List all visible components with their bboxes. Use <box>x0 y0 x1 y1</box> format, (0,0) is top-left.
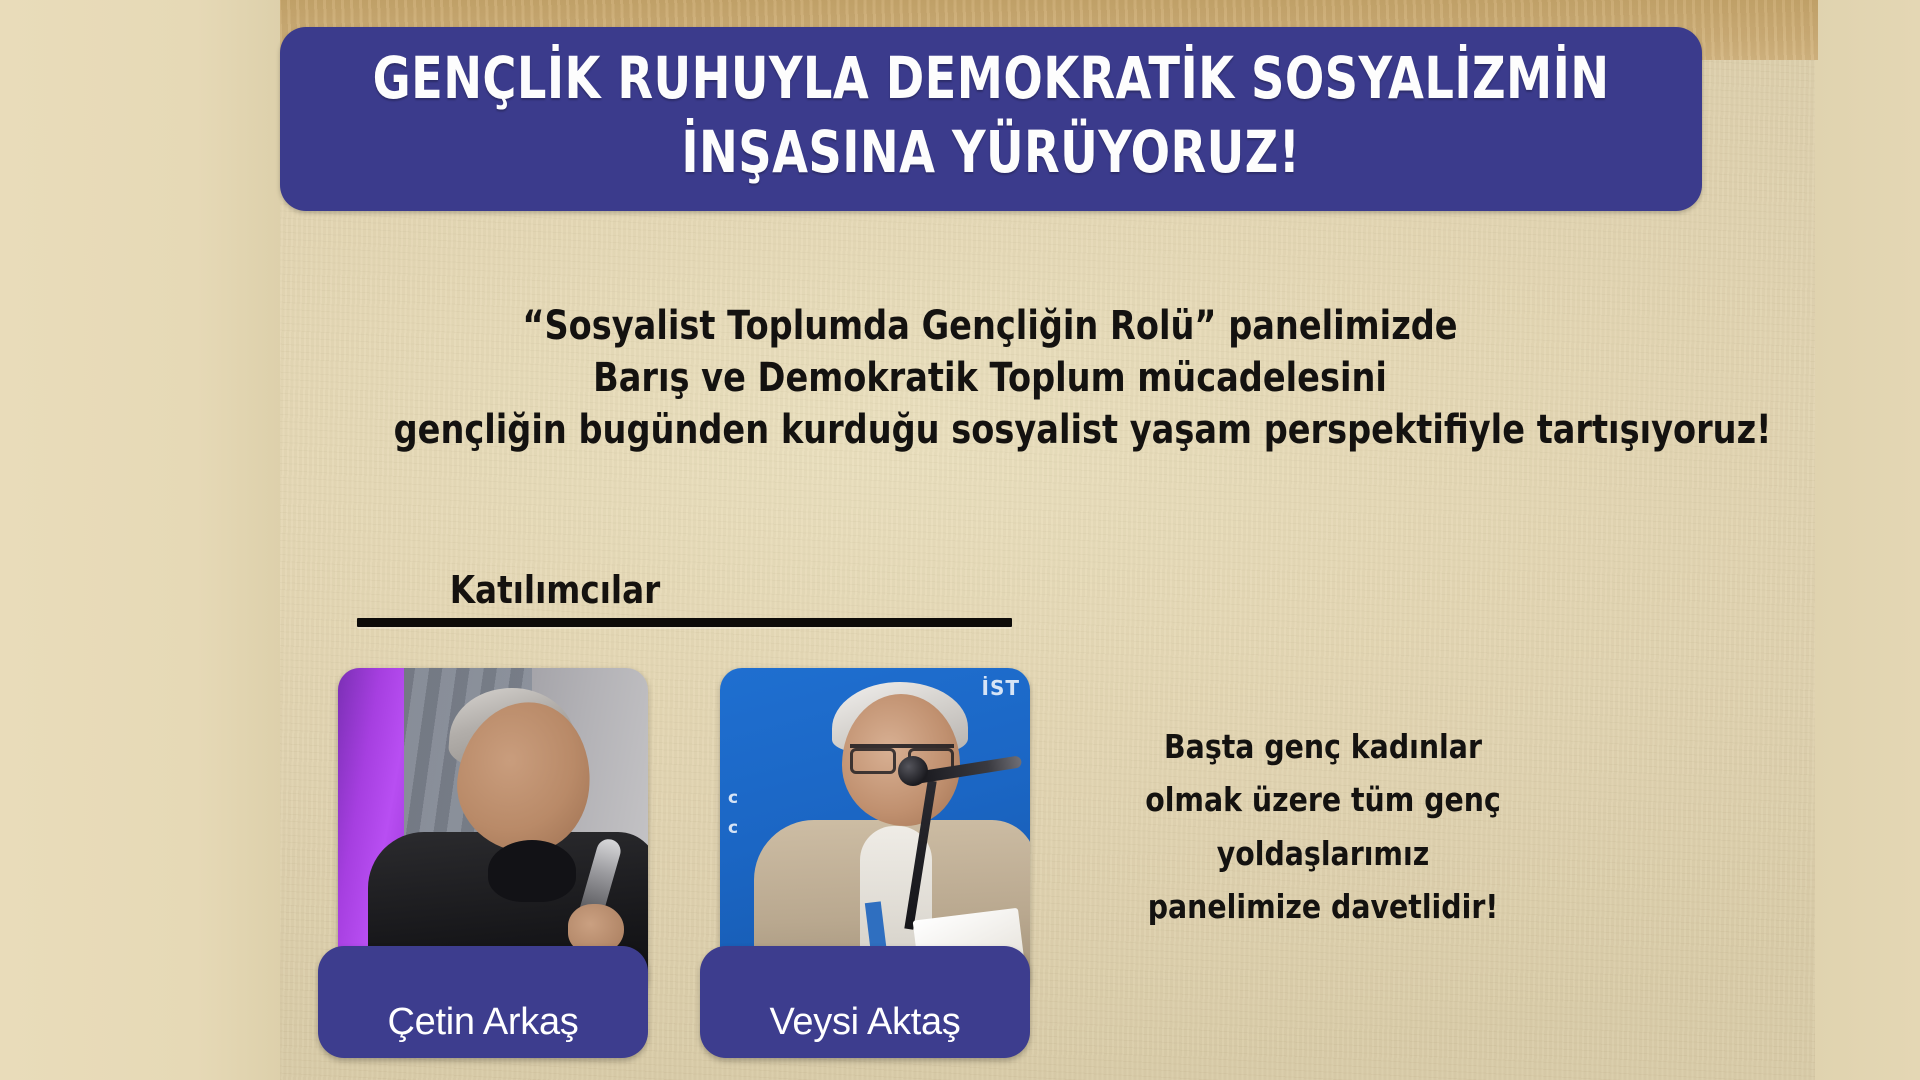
speaker-card-cetin-arkas: Çetin Arkaş <box>318 668 648 1058</box>
participants-heading: Katılımcılar <box>370 568 740 612</box>
invitation-line-4: panelimize davetlidir! <box>1138 880 1508 933</box>
paper-left-edge <box>0 0 280 1080</box>
title-line-2: İNŞASINA YÜRÜYORUZ! <box>682 123 1301 183</box>
invitation-line-2: olmak üzere tüm genç <box>1138 773 1508 826</box>
speaker-nameplate-2: Veysi Aktaş <box>700 946 1030 1058</box>
photo1-collar <box>488 840 576 902</box>
photo2-backdrop-text-2: c <box>728 788 739 808</box>
speaker-nameplate-1: Çetin Arkaş <box>318 946 648 1058</box>
title-line-1: GENÇLİK RUHUYLA DEMOKRATİK SOSYALİZMİN <box>373 49 1610 109</box>
invitation-line-1: Başta genç kadınlar <box>1138 720 1508 773</box>
intro-line-2: Barış ve Demokratik Toplum mücadelesini <box>394 352 1587 404</box>
photo2-mic-head <box>898 756 928 786</box>
intro-line-1: “Sosyalist Toplumda Gençliğin Rolü” pane… <box>394 300 1587 352</box>
intro-paragraph: “Sosyalist Toplumda Gençliğin Rolü” pane… <box>280 300 1700 456</box>
invitation-line-3: yoldaşlarımız <box>1138 827 1508 880</box>
intro-line-3: gençliğin bugünden kurduğu sosyalist yaş… <box>394 404 1587 456</box>
speaker-name-2: Veysi Aktaş <box>769 1001 960 1044</box>
speaker-name-1: Çetin Arkaş <box>387 1001 578 1044</box>
speaker-card-veysi-aktas: İST c c FER ASTİ TİK Veysi Aktaş <box>700 668 1030 1058</box>
paper-right-edge <box>1815 0 1920 1080</box>
poster-canvas: GENÇLİK RUHUYLA DEMOKRATİK SOSYALİZMİN İ… <box>0 0 1920 1080</box>
photo2-backdrop-text-3: c <box>728 818 739 838</box>
photo2-backdrop-text-1: İST <box>982 676 1021 700</box>
invitation-block: Başta genç kadınlar olmak üzere tüm genç… <box>1108 720 1538 934</box>
title-banner: GENÇLİK RUHUYLA DEMOKRATİK SOSYALİZMİN İ… <box>280 27 1702 211</box>
participants-divider <box>357 618 1012 627</box>
